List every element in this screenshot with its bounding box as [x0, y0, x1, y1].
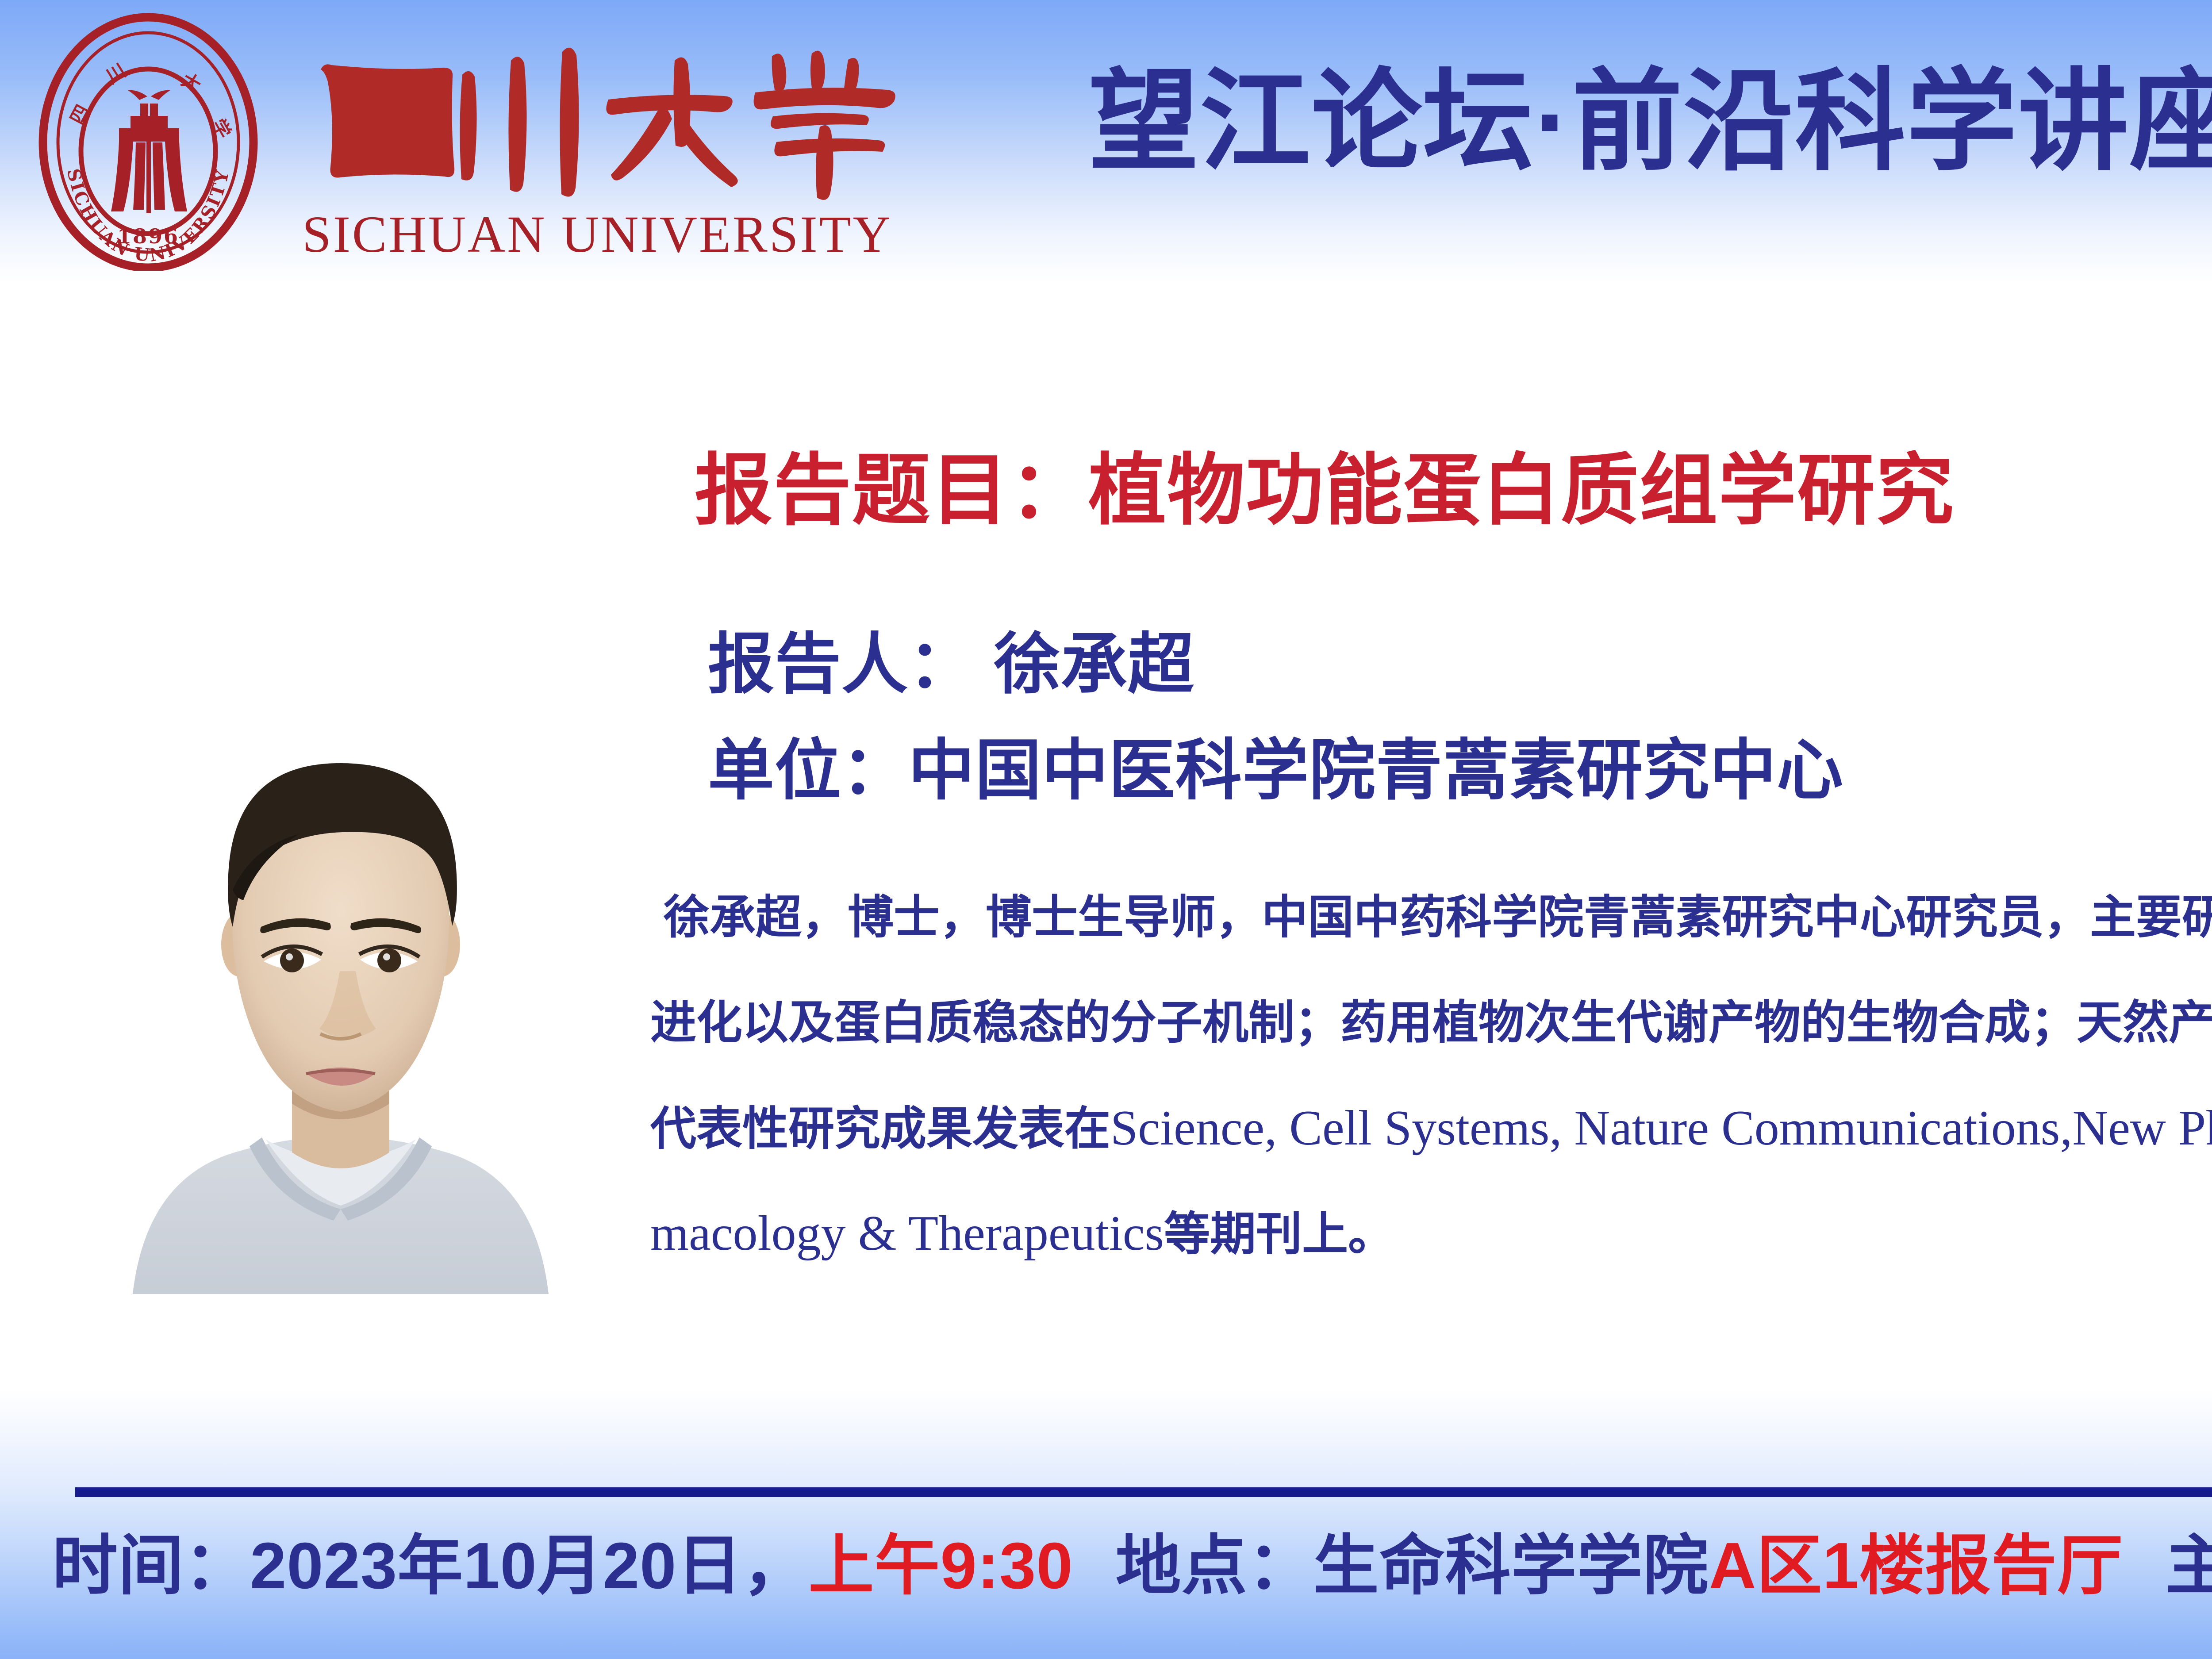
lecture-poster: 四 川 大 学 [0, 0, 2212, 1659]
speaker-biography: 徐承超，博士，博士生导师，中国中药科学院青蒿素研究中心研究员，主要研究：生物酶 … [650, 865, 2212, 1286]
bio-line-1-text: 徐承超，博士，博士生导师，中国中药科学院青蒿素研究中心研究员，主要研究：生物酶 [664, 892, 2212, 943]
bio-line-2: 进化以及蛋白质稳态的分子机制；药用植物次生代谢产物的生物合成；天然产物药用机理。 [650, 970, 2212, 1075]
bio-line-3-prefix: 代表性研究成果发表在 [650, 1103, 1110, 1155]
speaker-name-line: 报告人： 徐承超 [708, 611, 2212, 707]
date-value: 2023年10月20日， [250, 1529, 808, 1602]
university-name-cn-calligraphy [303, 34, 914, 202]
time-label: 时间： [0, 1529, 250, 1602]
poster-header: 四 川 大 学 [0, 0, 2212, 292]
university-name-en: SICHUAN UNIVERSITY [302, 204, 922, 265]
section-divider [75, 1487, 2212, 1497]
series-title-blue: 望江论坛·前沿科学讲座 [1088, 60, 2212, 183]
bio-line-1: 徐承超，博士，博士生导师，中国中药科学院青蒿素研究中心研究员，主要研究：生物酶 [650, 865, 2212, 970]
place-value-building: 生命科学学院 [1313, 1529, 1709, 1602]
host-label: 主持人： [2123, 1529, 2212, 1602]
series-title: 望江论坛·前沿科学讲座第124期 [1088, 49, 2212, 195]
sichuan-university-seal-icon: 四 川 大 学 [24, 10, 272, 271]
bio-line-4-journal: macology & Therapeutics [650, 1206, 1164, 1261]
bio-line-3-journals: Science, Cell Systems, Nature Communicat… [1110, 1101, 2212, 1156]
place-value-room: A区1楼报告厅 [1709, 1529, 2123, 1602]
speaker-portrait-photo [106, 697, 575, 1294]
event-details-bar: 时间：2023年10月20日，上午9:30地点：生命科学学院A区1楼报告厅主持人… [0, 1515, 2212, 1617]
bio-line-4-suffix: 等期刊上。 [1164, 1209, 1394, 1260]
time-value: 上午9:30 [808, 1529, 1073, 1602]
lecture-title: 报告题目：植物功能蛋白质组学研究 [695, 427, 2212, 540]
bio-line-3: 代表性研究成果发表在Science, Cell Systems, Nature … [650, 1075, 2212, 1181]
bio-line-2-text: 进化以及蛋白质稳态的分子机制；药用植物次生代谢产物的生物合成；天然产物药用机理。 [650, 997, 2212, 1048]
svg-text:四: 四 [66, 101, 94, 128]
place-label: 地点： [1073, 1529, 1313, 1602]
university-logo-block: 四 川 大 学 [24, 10, 931, 275]
speaker-affiliation-line: 单位：中国中医科学院青蒿素研究中心 [708, 717, 2212, 813]
bio-line-4: macology & Therapeutics等期刊上。 [650, 1181, 2212, 1286]
svg-text:大: 大 [178, 69, 205, 96]
